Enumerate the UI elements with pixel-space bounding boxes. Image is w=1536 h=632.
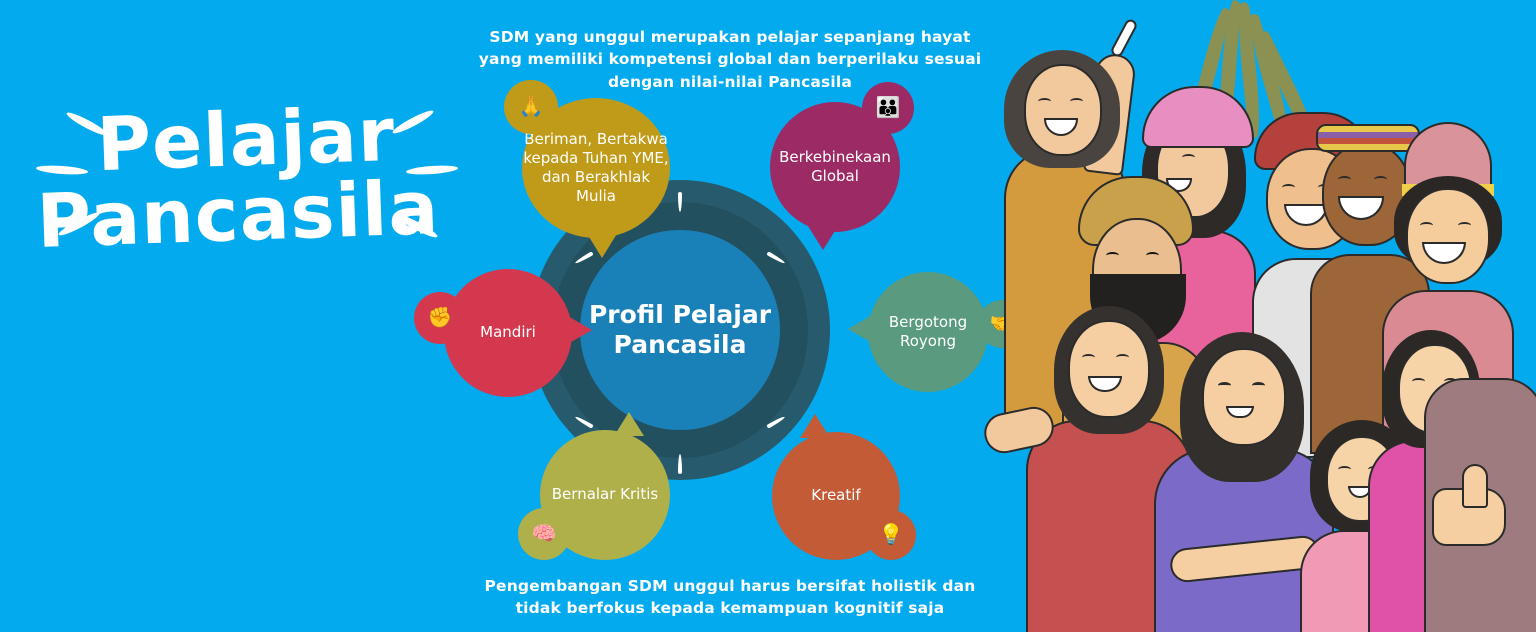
person-eye xyxy=(1338,466,1351,473)
profil-pelajar-pancasila-diagram: Profil Pelajar Pancasila Beriman, Bertak… xyxy=(400,80,1060,560)
thumb-digit xyxy=(1462,464,1488,508)
raised-fist-icon: ✊ xyxy=(414,292,466,344)
person-eye xyxy=(1070,98,1083,105)
dimension-label-bergotong-royong: Bergotong Royong xyxy=(868,313,988,351)
person-eye xyxy=(1146,252,1159,259)
bubble-tail xyxy=(614,412,644,436)
person-eye xyxy=(1420,222,1433,229)
bubble-tail xyxy=(808,226,838,250)
center-label: Profil Pelajar Pancasila xyxy=(580,300,780,361)
infographic-canvas: Pelajar Pancasila SDM yang unggul merupa… xyxy=(0,0,1536,632)
chalk-icon xyxy=(1109,18,1138,59)
dimension-bubble-mandiri[interactable]: Mandiri xyxy=(444,269,572,397)
logo-line-pancasila: Pancasila xyxy=(17,171,459,259)
dimension-label-beriman: Beriman, Bertakwa kepada Tuhan YME, dan … xyxy=(522,130,670,207)
caption-bottom: Pengembangan SDM unggul harus bersifat h… xyxy=(470,575,990,620)
critical-thinking-icon: 🧠 xyxy=(518,508,570,560)
person-eye xyxy=(1082,354,1095,361)
diversity-illustration xyxy=(976,0,1536,632)
bubble-tail xyxy=(586,232,618,258)
bubble-tail xyxy=(800,414,830,438)
person-eye xyxy=(1458,222,1471,229)
person-head xyxy=(1406,188,1490,284)
person-eye xyxy=(1252,382,1265,389)
person-eye xyxy=(1282,184,1295,191)
person-eye xyxy=(1106,252,1119,259)
critical-thinking-glyph: 🧠 xyxy=(532,524,557,544)
person-head xyxy=(1202,348,1286,446)
person-eye xyxy=(1218,382,1231,389)
dimension-label-bernalar-kritis: Bernalar Kritis xyxy=(552,485,658,504)
praying-hands-icon: 🙏 xyxy=(504,80,558,134)
dimension-label-mandiri: Mandiri xyxy=(480,323,536,342)
person-eye xyxy=(1116,354,1129,361)
person-head xyxy=(1068,320,1150,418)
dimension-label-berkebinekaan-global: Berkebinekaan Global xyxy=(770,148,900,186)
person-head xyxy=(1024,64,1102,156)
praying-hands-glyph: 🙏 xyxy=(519,97,544,117)
diagram-center-circle: Profil Pelajar Pancasila xyxy=(580,230,780,430)
pelajar-pancasila-logo: Pelajar Pancasila xyxy=(28,104,458,294)
lightbulb-glyph: 💡 xyxy=(879,525,904,545)
raised-fist-glyph: ✊ xyxy=(428,308,453,328)
beanie-hat-icon xyxy=(1142,86,1254,148)
bubble-tail xyxy=(566,315,592,345)
person-eye xyxy=(1182,154,1195,161)
dimension-label-kreatif: Kreatif xyxy=(811,486,860,505)
person-eye xyxy=(1038,98,1051,105)
group-of-people-glyph: 👪 xyxy=(876,98,901,118)
person-eye xyxy=(1338,176,1351,183)
person-thumbs-up xyxy=(1424,348,1536,632)
group-of-people-heart-icon: 👪 xyxy=(862,82,914,134)
bubble-tail xyxy=(848,314,874,344)
dimension-bubble-bergotong-royong[interactable]: Bergotong Royong xyxy=(868,272,988,392)
lightbulb-idea-icon: 💡 xyxy=(866,510,916,560)
